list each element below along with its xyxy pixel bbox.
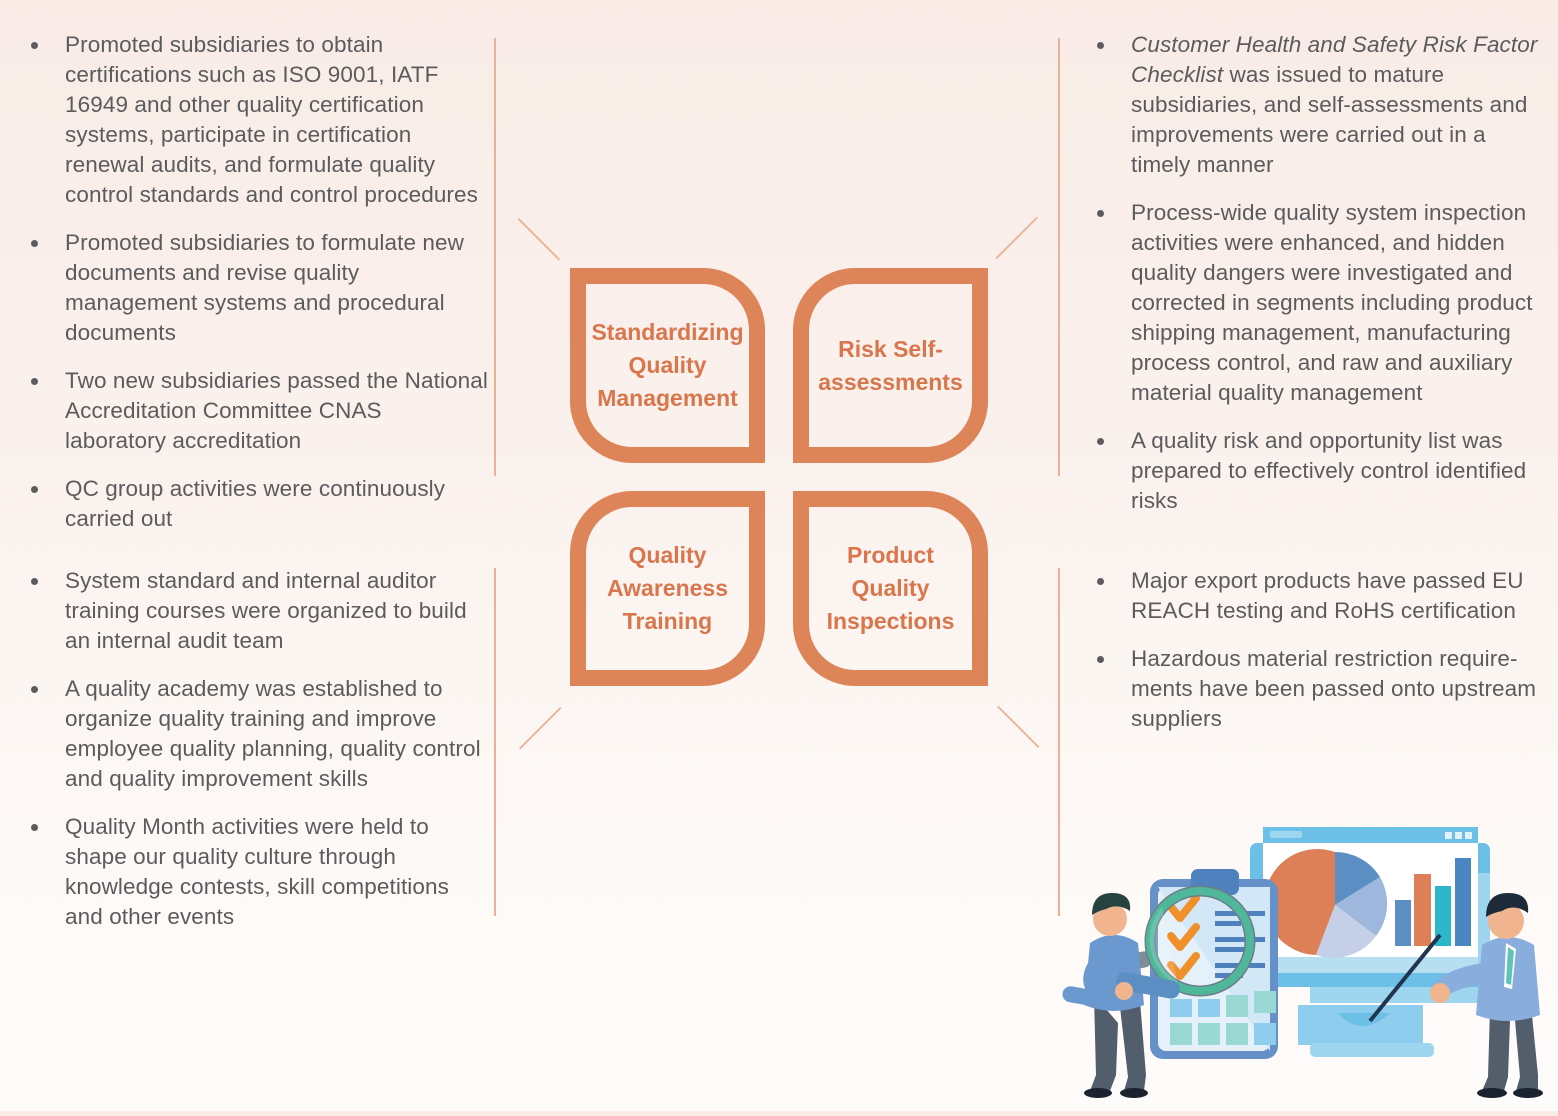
- petal-standardizing-quality-management[interactable]: Standardizing Quality Management: [570, 268, 765, 463]
- list-item: A quality risk and opportunity list was …: [1084, 426, 1546, 516]
- bullet-list-bottom-right: Major export products have passed EU REA…: [1084, 566, 1546, 734]
- petal-product-quality-inspections[interactable]: Product Quality Inspections: [793, 491, 988, 686]
- connector-bottom-left: [519, 707, 561, 749]
- petal-label: Standardizing Quality Management: [581, 316, 753, 415]
- petal-label: Risk Self-assessments: [808, 333, 972, 399]
- list-item: System standard and internal auditor tra…: [18, 566, 488, 656]
- connector-top-right: [996, 217, 1038, 259]
- list-item: Major export products have passed EU REA…: [1084, 566, 1546, 626]
- list-item: Promoted subsidiaries to formulate new d…: [18, 228, 488, 348]
- quadrant-bottom-left: System standard and internal auditor tra…: [18, 566, 488, 932]
- list-item: Two new subsidiaries passed the National…: [18, 366, 488, 456]
- list-item: A quality academy was established to org…: [18, 674, 488, 794]
- quadrant-top-right: Customer Health and Safety Risk Factor C…: [1084, 30, 1546, 516]
- connector-bottom-right: [997, 706, 1039, 748]
- divider-left-top: [494, 38, 496, 476]
- desktop-monitor-icon: [1250, 827, 1490, 1057]
- connector-top-left: [518, 218, 560, 260]
- divider-right-top: [1058, 38, 1060, 476]
- list-item: Process-wide quality system inspection a…: [1084, 198, 1546, 408]
- bullet-list-bottom-left: System standard and internal auditor tra…: [18, 566, 488, 932]
- petal-label: Quality Awareness Training: [586, 539, 749, 638]
- list-item: Customer Health and Safety Risk Factor C…: [1084, 30, 1546, 180]
- quadrant-top-left: Promoted subsidiaries to obtain certific…: [18, 30, 488, 534]
- bullet-list-top-left: Promoted subsidiaries to obtain certific…: [18, 30, 488, 534]
- quadrant-bottom-right: Major export products have passed EU REA…: [1084, 566, 1546, 734]
- list-item: Hazardous material restriction require-m…: [1084, 644, 1546, 734]
- pie-chart: [1264, 849, 1387, 958]
- petal-quality-awareness-training[interactable]: Quality Awareness Training: [570, 491, 765, 686]
- list-item: Quality Month activities were held to sh…: [18, 812, 488, 932]
- divider-left-bottom: [494, 568, 496, 916]
- list-item: Promoted subsidiaries to obtain certific…: [18, 30, 488, 210]
- infographic-canvas: Promoted subsidiaries to obtain certific…: [0, 0, 1558, 1111]
- petal-risk-self-assessments[interactable]: Risk Self-assessments: [793, 268, 988, 463]
- petal-label: Product Quality Inspections: [809, 539, 972, 638]
- bullet-list-top-right: Customer Health and Safety Risk Factor C…: [1084, 30, 1546, 516]
- quality-management-four-petal-diagram: Standardizing Quality Management Risk Se…: [570, 268, 988, 686]
- list-item: QC group activities were continuously ca…: [18, 474, 488, 534]
- quality-inspection-illustration: [1058, 795, 1558, 1111]
